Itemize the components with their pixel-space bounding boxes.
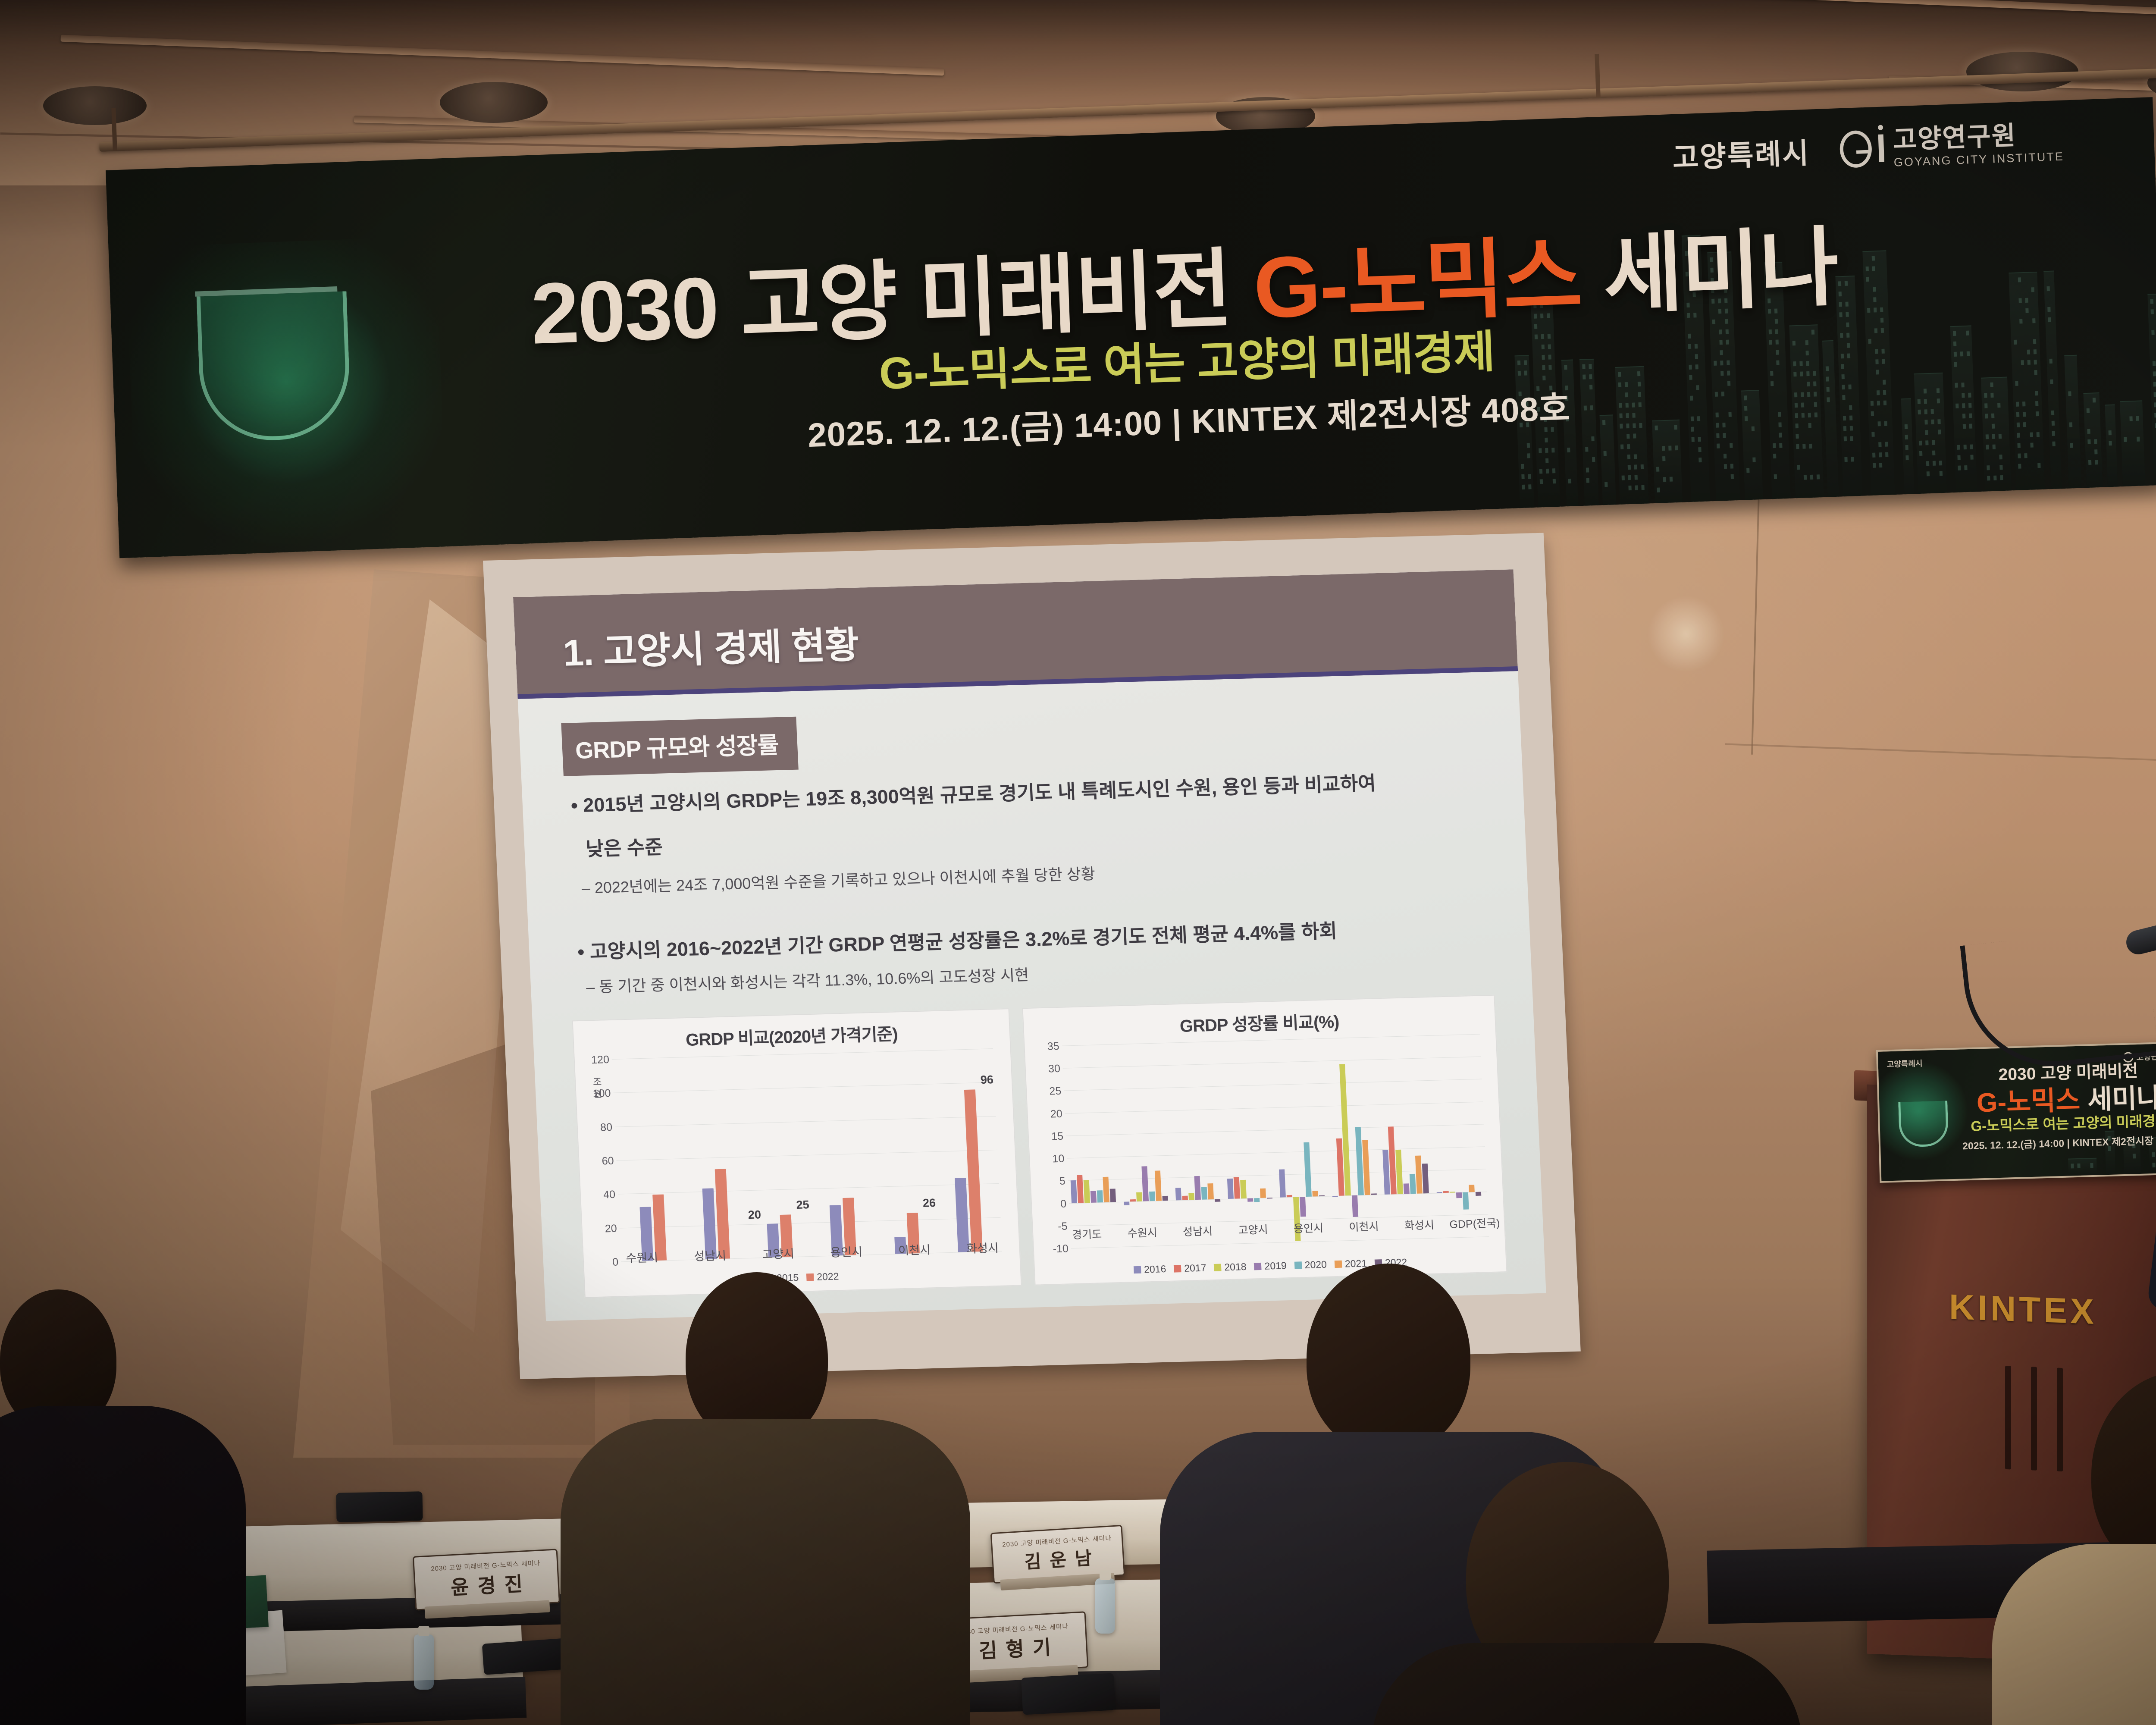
bar (1437, 1192, 1442, 1193)
chart-left-bars: 20252696 (614, 1048, 1002, 1261)
y-axis-tick: 15 (1041, 1130, 1063, 1143)
legend-label: 2016 (1144, 1263, 1166, 1275)
bar (1149, 1191, 1155, 1201)
gi-g-glyph-icon (1839, 130, 1872, 168)
x-axis-tick: 용인시 (812, 1242, 881, 1261)
bar (1175, 1188, 1181, 1200)
x-axis-tick: 화성시 (948, 1238, 1017, 1257)
bar-group (1168, 1041, 1229, 1245)
bar-group (1063, 1044, 1125, 1248)
bar (1227, 1178, 1234, 1198)
bar (1103, 1177, 1109, 1202)
bar (1247, 1198, 1253, 1202)
slide-bullet-2: • 고양시의 2016~2022년 기간 GRDP 연평균 성장률은 3.2%로… (577, 915, 1338, 964)
bar-data-label: 20 (748, 1208, 761, 1222)
bar (1415, 1155, 1423, 1193)
bar (1194, 1176, 1201, 1200)
bar (1130, 1199, 1136, 1201)
y-axis-tick: 20 (597, 1222, 617, 1235)
bar-data-label: 96 (980, 1073, 993, 1087)
bar (1234, 1177, 1240, 1198)
y-axis-tick: 120 (589, 1054, 609, 1066)
skyline-building (2065, 354, 2081, 488)
gi-institute-logo: 고양연구원 GOYANG CITY INSTITUTE (1839, 121, 2064, 171)
x-axis-tick: 이천시 (1336, 1217, 1392, 1235)
bar (1240, 1180, 1247, 1198)
skyline-building (1652, 420, 1683, 503)
bar-data-label: 25 (796, 1198, 809, 1212)
bar (1395, 1150, 1403, 1194)
legend-label: 2022 (817, 1270, 839, 1283)
bar-group (1376, 1035, 1438, 1239)
y-axis-tick: 60 (594, 1155, 614, 1168)
x-axis-tick: GDP(전국) (1447, 1214, 1503, 1232)
y-axis-tick: 40 (595, 1189, 615, 1201)
event-banner: 고양특례시 고양연구원 GOYANG CITY INSTITUTE 2030 고… (106, 97, 2156, 558)
bar (1141, 1166, 1149, 1201)
bar (1071, 1180, 1077, 1203)
x-axis-tick: 수원시 (608, 1248, 677, 1266)
bar (1352, 1195, 1358, 1217)
skyline-building (2120, 401, 2145, 487)
x-axis-tick: 수원시 (1114, 1224, 1170, 1241)
podium-sign-logo-left: 고양특례시 (1887, 1057, 1923, 1069)
bar (1304, 1142, 1312, 1197)
skyline-building (2147, 293, 2156, 486)
nameplate-3-name: 김형기 (969, 1631, 1060, 1665)
y-axis-tick: 20 (1040, 1107, 1062, 1120)
bar (1077, 1175, 1084, 1203)
bar (1450, 1192, 1455, 1192)
slide-subbullet-2: – 동 기간 중 이천시와 화성시는 각각 11.3%, 10.6%의 고도성장… (586, 963, 1029, 997)
bar (1260, 1188, 1266, 1198)
bar (1300, 1197, 1306, 1217)
chart-grdp-growth: GRDP 성장률 비교(%) -10-505101520253035 경기도수원… (1022, 995, 1507, 1286)
bar (1463, 1192, 1469, 1210)
x-axis-tick: 성남시 (676, 1245, 745, 1264)
bar (1136, 1192, 1142, 1201)
chart-left-plot: 조 원 020406080100120 20252696 (589, 1048, 1005, 1262)
nameplate-1-name: 윤경진 (441, 1568, 532, 1601)
slide-bullet-1: • 2015년 고양시의 GRDP는 19조 8,300억원 규모로 경기도 내… (570, 767, 1376, 818)
chart-grdp-comparison: GRDP 비교(2020년 가격기준) 조 원 020406080100120 … (572, 1008, 1022, 1298)
bar (1110, 1189, 1116, 1202)
y-axis-tick: 100 (591, 1087, 611, 1100)
skyline-building (2105, 405, 2118, 487)
slide-subbullet-1: – 2022년에는 24조 7,000억원 수준을 기록하고 있으나 이천시에 … (581, 861, 1095, 898)
institute-name-en: GOYANG CITY INSTITUTE (1894, 151, 2065, 169)
bar-group (1272, 1038, 1333, 1242)
y-axis-tick: 5 (1044, 1175, 1065, 1188)
legend-label: 2017 (1184, 1262, 1206, 1274)
x-axis-tick: 성남시 (1169, 1222, 1225, 1239)
chart-left-legend: 20152022 (585, 1266, 1021, 1289)
bar (1371, 1194, 1377, 1195)
bar (714, 1169, 730, 1259)
banner-city-logo-text: 고양특례시 (1672, 130, 1811, 176)
legend-item: 2022 (806, 1270, 839, 1283)
bar (1254, 1198, 1260, 1202)
bar (1469, 1185, 1475, 1192)
podium-brand-text: KINTEX (1949, 1287, 2097, 1333)
legend-item: 2018 (1214, 1261, 1247, 1273)
bar (1355, 1127, 1364, 1195)
wall-light-glare (1647, 595, 1725, 673)
bar (1312, 1191, 1318, 1196)
legend-item: 2020 (1294, 1259, 1327, 1271)
bar (1188, 1193, 1194, 1200)
bar (1279, 1169, 1286, 1197)
bar (1404, 1183, 1410, 1194)
bar (1332, 1195, 1338, 1196)
bar (1207, 1183, 1214, 1199)
bar (1410, 1174, 1416, 1194)
bar (1267, 1198, 1272, 1198)
skyline-building (2044, 271, 2062, 489)
bar (1201, 1187, 1207, 1200)
x-axis-tick: 고양시 (744, 1244, 813, 1262)
legend-item: 2017 (1174, 1262, 1206, 1274)
bar-group (677, 1056, 749, 1260)
x-axis-tick: 경기도 (1059, 1225, 1115, 1242)
y-axis-tick: 30 (1038, 1063, 1060, 1076)
bar-group (1429, 1034, 1490, 1238)
photo-scene: 고양특례시 고양연구원 GOYANG CITY INSTITUTE 2030 고… (0, 0, 2156, 1725)
skyline-building (2068, 1158, 2097, 1176)
bar-group: 26 (866, 1050, 939, 1255)
y-axis-tick: 80 (592, 1121, 612, 1134)
chart-right-bars (1063, 1034, 1490, 1248)
bar-group (614, 1057, 686, 1262)
projection-screen: 1. 고양시 경제 현황 GRDP 규모와 성장률 • 2015년 고양시의 G… (513, 569, 1546, 1321)
gi-i-glyph-icon (1878, 134, 1884, 162)
chart-left-title: GRDP 비교(2020년 가격기준) (573, 1017, 1010, 1054)
bar (1476, 1192, 1481, 1196)
device-on-desk (336, 1491, 423, 1522)
bar (1091, 1191, 1097, 1202)
bar (1124, 1201, 1129, 1205)
phone-on-desk (482, 1638, 570, 1675)
bar-group: 96 (930, 1048, 1002, 1253)
bar (1163, 1196, 1168, 1201)
slide-title: 1. 고양시 경제 현황 (562, 615, 860, 677)
phone-on-desk (1021, 1673, 1116, 1715)
water-bottle (414, 1634, 434, 1690)
bar-group (1116, 1043, 1177, 1247)
x-axis-tick: 화성시 (1391, 1216, 1447, 1233)
bar (1287, 1195, 1292, 1197)
legend-label: 2020 (1304, 1259, 1327, 1271)
x-axis-tick: 이천시 (880, 1240, 949, 1258)
bar (1422, 1164, 1429, 1193)
legend-item: 2019 (1254, 1260, 1287, 1272)
slide-bullet-1-cont: 낮은 수준 (585, 831, 663, 861)
chart-right-legend: 2016201720182019202020212022 (1035, 1254, 1506, 1278)
x-axis-tick: 고양시 (1225, 1221, 1281, 1238)
bar-group (1220, 1040, 1281, 1244)
bar (1084, 1180, 1090, 1203)
bar (1443, 1191, 1449, 1192)
y-axis-tick: 0 (1044, 1198, 1066, 1211)
bar (1215, 1199, 1220, 1202)
y-axis-tick: 25 (1040, 1085, 1062, 1098)
bar (1182, 1196, 1188, 1200)
skyline-building (2084, 392, 2103, 488)
bar-data-label: 26 (922, 1196, 936, 1210)
legend-label: 2019 (1264, 1260, 1287, 1272)
institute-name-ko: 고양연구원 (1893, 121, 2064, 153)
y-axis-tick: 35 (1037, 1040, 1059, 1053)
y-axis-tick: -10 (1047, 1242, 1069, 1255)
legend-label: 2018 (1224, 1261, 1247, 1273)
legend-item: 2016 (1134, 1263, 1166, 1276)
nameplate-2-name: 김운남 (1015, 1543, 1101, 1574)
bar-group: 2025 (740, 1054, 812, 1258)
water-bottle (1095, 1578, 1115, 1634)
y-axis-tick: 10 (1043, 1153, 1065, 1166)
bar (1456, 1192, 1462, 1198)
bar-group (803, 1052, 876, 1256)
banner-logo-row: 고양특례시 고양연구원 GOYANG CITY INSTITUTE (1672, 121, 2064, 176)
bar (1319, 1195, 1325, 1196)
bar (1097, 1191, 1103, 1202)
bar-group (1324, 1037, 1385, 1241)
bar (1155, 1170, 1162, 1201)
slide-section-header: GRDP 규모와 성장률 (561, 717, 799, 776)
podium-sign: 고양특례시 고양연구원 2030 고양 미래비전 G-노믹스 세미나 G-노믹스… (1876, 1041, 2156, 1183)
x-axis-tick: 용인시 (1280, 1219, 1336, 1236)
